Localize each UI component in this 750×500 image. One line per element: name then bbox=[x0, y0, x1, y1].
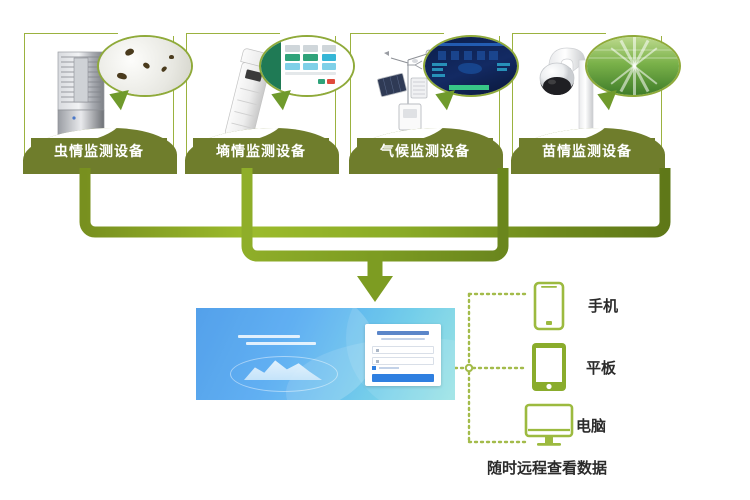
remember-label bbox=[379, 367, 399, 369]
bubble-image-dashboard bbox=[425, 37, 517, 95]
callout-bubble-climate bbox=[423, 35, 519, 97]
dashboard-hero-text bbox=[238, 335, 308, 349]
diagram-caption: 随时远程查看数据 bbox=[487, 457, 607, 478]
device-card-label-soil: 墒情监测设备 bbox=[193, 138, 329, 164]
client-tablet-label: 平板 bbox=[586, 357, 616, 378]
monitor-icon bbox=[524, 403, 574, 449]
device-card-label-crop: 苗情监测设备 bbox=[519, 138, 655, 164]
connector-trunk bbox=[0, 168, 750, 308]
bubble-image-table bbox=[261, 37, 353, 95]
login-card[interactable] bbox=[365, 324, 441, 386]
login-subtitle bbox=[381, 338, 425, 340]
bubble-image-trap bbox=[99, 37, 191, 95]
phone-icon bbox=[532, 281, 566, 331]
client-computer-label: 电脑 bbox=[576, 415, 606, 436]
client-computer[interactable]: 电脑 bbox=[524, 403, 574, 454]
login-title bbox=[377, 331, 429, 335]
device-card-label-pest: 虫情监测设备 bbox=[31, 138, 167, 164]
diagram-canvas: 虫情监测设备 bbox=[0, 0, 750, 500]
callout-bubble-soil bbox=[259, 35, 355, 97]
login-submit-button[interactable] bbox=[372, 374, 434, 382]
username-field[interactable] bbox=[372, 346, 434, 354]
client-phone-label: 手机 bbox=[588, 295, 618, 316]
device-card-label-climate: 气候监测设备 bbox=[357, 138, 493, 164]
callout-bubble-pest bbox=[97, 35, 193, 97]
bubble-image-greenhouse bbox=[587, 37, 679, 95]
client-phone[interactable]: 手机 bbox=[532, 281, 566, 336]
password-field[interactable] bbox=[372, 357, 434, 365]
callout-bubble-crop bbox=[585, 35, 681, 97]
remember-checkbox[interactable] bbox=[372, 366, 376, 370]
tablet-icon bbox=[530, 341, 568, 393]
client-tablet[interactable]: 平板 bbox=[530, 341, 568, 398]
platform-dashboard-screen[interactable] bbox=[196, 308, 455, 400]
